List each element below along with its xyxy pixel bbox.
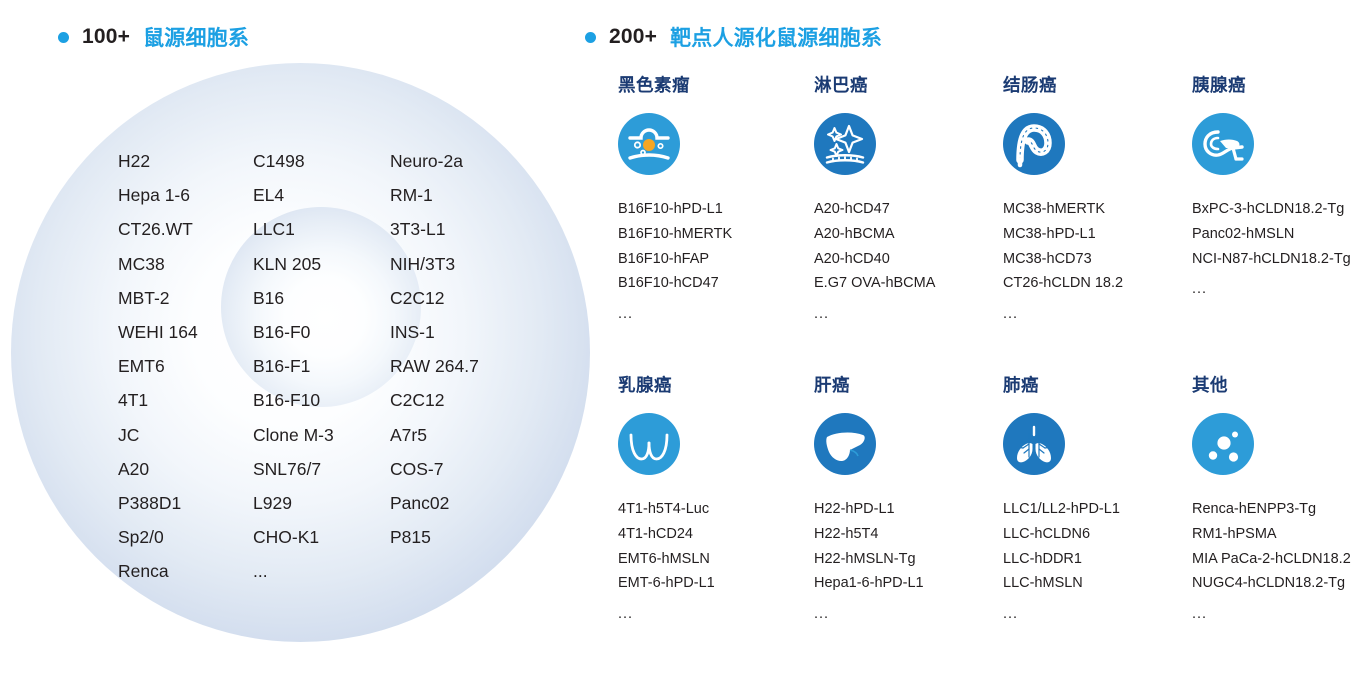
mouse-cell-line-sphere-panel: H22Hepa 1-6CT26.WTMC38MBT-2WEHI 164EMT64… — [0, 0, 600, 681]
cell-line-item: NIH/3T3 — [390, 247, 479, 281]
cell-line-item: SNL76/7 — [253, 452, 334, 486]
cancer-category-title: 其他 — [1192, 372, 1365, 397]
cell-line-item: A20 — [118, 452, 198, 486]
sphere-column-1: H22Hepa 1-6CT26.WTMC38MBT-2WEHI 164EMT64… — [118, 144, 198, 588]
cell-line-item: H22-hPD-L1 — [814, 497, 1004, 522]
sphere-cell-line-columns: H22Hepa 1-6CT26.WTMC38MBT-2WEHI 164EMT64… — [0, 0, 600, 681]
cancer-category-cell: 结肠癌 MC38-hMERTKMC38-hPD-L1MC38-hCD73CT26… — [1003, 72, 1193, 326]
cancer-category-title: 结肠癌 — [1003, 72, 1193, 97]
cell-line-item: C1498 — [253, 144, 334, 178]
melanoma-skin-icon — [618, 113, 680, 175]
cell-line-item: Hepa1-6-hPD-L1 — [814, 571, 1004, 596]
cancer-category-title: 黑色素瘤 — [618, 72, 808, 97]
cell-line-item: B16F10-hFAP — [618, 247, 808, 272]
cell-line-item: A7r5 — [390, 418, 479, 452]
lungs-icon — [1003, 413, 1065, 475]
cell-line-item: Panc02 — [390, 486, 479, 520]
cell-line-item: Renca-hENPP3-Tg — [1192, 497, 1365, 522]
cell-line-item: ... — [618, 596, 808, 626]
cell-line-item: ... — [253, 554, 334, 588]
cell-line-item: Clone M-3 — [253, 418, 334, 452]
cell-line-item: MC38 — [118, 247, 198, 281]
cell-line-item: MIA PaCa-2-hCLDN18.2 — [1192, 547, 1365, 572]
cell-line-item: LLC-hDDR1 — [1003, 547, 1193, 572]
cell-line-item: EMT6 — [118, 349, 198, 383]
section-header-humanized-cell-lines: 200+ 靶点人源化鼠源细胞系 — [585, 22, 882, 52]
cell-line-item: EMT-6-hPD-L1 — [618, 571, 808, 596]
cell-line-item: BxPC-3-hCLDN18.2-Tg — [1192, 197, 1365, 222]
cancer-category-grid: 黑色素瘤 B16F10-hPD-L1B16F10-hMERTKB16F10-hF… — [618, 72, 1358, 672]
cell-line-item: NCI-N87-hCLDN18.2-Tg — [1192, 247, 1365, 272]
pancreas-icon — [1192, 113, 1254, 175]
cell-line-item: ... — [1192, 596, 1365, 626]
cancer-category-cell: 胰腺癌 BxPC-3-hCLDN18.2-TgPanc02-hMSLNNCI-N… — [1192, 72, 1365, 301]
cell-line-item: CT26-hCLDN 18.2 — [1003, 271, 1193, 296]
cell-line-item: Sp2/0 — [118, 520, 198, 554]
cell-line-item: NUGC4-hCLDN18.2-Tg — [1192, 571, 1365, 596]
cancer-category-cell: 其他 Renca-hENPP3-TgRM1-hPSMAMIA PaCa-2-hC… — [1192, 372, 1365, 626]
cell-line-item: H22-h5T4 — [814, 522, 1004, 547]
cell-line-item: EMT6-hMSLN — [618, 547, 808, 572]
cell-line-item: ... — [814, 596, 1004, 626]
cancer-category-cell-line-list: LLC1/LL2-hPD-L1LLC-hCLDN6LLC-hDDR1LLC-hM… — [1003, 497, 1193, 626]
cell-line-item: B16F10-hPD-L1 — [618, 197, 808, 222]
cancer-category-title: 胰腺癌 — [1192, 72, 1365, 97]
header-right-count: 200+ — [609, 25, 657, 49]
cancer-category-title: 乳腺癌 — [618, 372, 808, 397]
cancer-category-cell-line-list: MC38-hMERTKMC38-hPD-L1MC38-hCD73CT26-hCL… — [1003, 197, 1193, 326]
cell-line-item: MBT-2 — [118, 281, 198, 315]
cell-line-item: E.G7 OVA-hBCMA — [814, 271, 1004, 296]
cell-line-item: EL4 — [253, 178, 334, 212]
cell-line-item: B16F10-hMERTK — [618, 222, 808, 247]
cancer-category-cell: 乳腺癌 4T1-h5T4-Luc4T1-hCD24EMT6-hMSLNEMT-6… — [618, 372, 808, 626]
cell-line-item: CT26.WT — [118, 212, 198, 246]
cancer-category-cell-line-list: B16F10-hPD-L1B16F10-hMERTKB16F10-hFAPB16… — [618, 197, 808, 326]
cell-line-item: 4T1 — [118, 383, 198, 417]
sphere-column-2: C1498EL4LLC1KLN 205B16B16-F0B16-F1B16-F1… — [253, 144, 334, 588]
cancer-category-cell: 肺癌 LLC1/LL2-hPD-L1LLC-hCLDN6LLC-hDDR1LLC… — [1003, 372, 1193, 626]
cell-line-item: B16-F0 — [253, 315, 334, 349]
cell-line-item: 4T1-h5T4-Luc — [618, 497, 808, 522]
cell-line-item: MC38-hMERTK — [1003, 197, 1193, 222]
cancer-category-cell-line-list: A20-hCD47A20-hBCMAA20-hCD40E.G7 OVA-hBCM… — [814, 197, 1004, 326]
cell-line-item: JC — [118, 418, 198, 452]
cell-line-item: ... — [1192, 271, 1365, 301]
colon-icon — [1003, 113, 1065, 175]
cell-line-item: B16-F10 — [253, 383, 334, 417]
cell-line-item: B16F10-hCD47 — [618, 271, 808, 296]
cell-line-item: LLC-hMSLN — [1003, 571, 1193, 596]
cell-line-item: L929 — [253, 486, 334, 520]
cell-line-item: ... — [1003, 296, 1193, 326]
cell-line-item: RM1-hPSMA — [1192, 522, 1365, 547]
cell-line-item: B16-F1 — [253, 349, 334, 383]
cell-line-item: INS-1 — [390, 315, 479, 349]
sphere-column-3: Neuro-2aRM-13T3-L1NIH/3T3C2C12INS-1RAW 2… — [390, 144, 479, 554]
cell-line-item: P815 — [390, 520, 479, 554]
cancer-category-cell-line-list: Renca-hENPP3-TgRM1-hPSMAMIA PaCa-2-hCLDN… — [1192, 497, 1365, 626]
cell-line-item: 3T3-L1 — [390, 212, 479, 246]
cell-line-item: ... — [1003, 596, 1193, 626]
cell-line-item: H22 — [118, 144, 198, 178]
cell-line-item: 4T1-hCD24 — [618, 522, 808, 547]
cell-line-item: B16 — [253, 281, 334, 315]
cell-line-item: LLC1 — [253, 212, 334, 246]
cancer-category-cell: 黑色素瘤 B16F10-hPD-L1B16F10-hMERTKB16F10-hF… — [618, 72, 808, 326]
cell-line-item: ... — [618, 296, 808, 326]
cell-line-item: WEHI 164 — [118, 315, 198, 349]
cell-line-item: ... — [814, 296, 1004, 326]
breast-icon — [618, 413, 680, 475]
cell-line-item: H22-hMSLN-Tg — [814, 547, 1004, 572]
cell-line-item: A20-hCD40 — [814, 247, 1004, 272]
header-right-text: 靶点人源化鼠源细胞系 — [670, 22, 882, 52]
cell-line-item: C2C12 — [390, 281, 479, 315]
cancer-category-cell-line-list: BxPC-3-hCLDN18.2-TgPanc02-hMSLNNCI-N87-h… — [1192, 197, 1365, 301]
cell-line-item: LLC-hCLDN6 — [1003, 522, 1193, 547]
cell-line-item: Hepa 1-6 — [118, 178, 198, 212]
lymphoma-sparkle-icon — [814, 113, 876, 175]
cancer-category-title: 肝癌 — [814, 372, 1004, 397]
cancer-category-cell-line-list: 4T1-h5T4-Luc4T1-hCD24EMT6-hMSLNEMT-6-hPD… — [618, 497, 808, 626]
cell-line-item: Neuro-2a — [390, 144, 479, 178]
cancer-category-cell: 淋巴癌 A20-hCD47A20-hBCMAA20-hCD40E.G7 OVA-… — [814, 72, 1004, 326]
cell-line-item: KLN 205 — [253, 247, 334, 281]
cell-line-item: Renca — [118, 554, 198, 588]
cell-line-item: RM-1 — [390, 178, 479, 212]
cancer-category-title: 淋巴癌 — [814, 72, 1004, 97]
cell-line-item: MC38-hPD-L1 — [1003, 222, 1193, 247]
cancer-category-title: 肺癌 — [1003, 372, 1193, 397]
cell-line-item: LLC1/LL2-hPD-L1 — [1003, 497, 1193, 522]
cell-line-item: C2C12 — [390, 383, 479, 417]
cell-line-item: A20-hBCMA — [814, 222, 1004, 247]
cells-dots-icon — [1192, 413, 1254, 475]
cell-line-item: CHO-K1 — [253, 520, 334, 554]
cell-line-item: MC38-hCD73 — [1003, 247, 1193, 272]
liver-icon — [814, 413, 876, 475]
cell-line-item: P388D1 — [118, 486, 198, 520]
cancer-category-cell: 肝癌 H22-hPD-L1H22-h5T4H22-hMSLN-TgHepa1-6… — [814, 372, 1004, 626]
cell-line-item: RAW 264.7 — [390, 349, 479, 383]
cell-line-item: A20-hCD47 — [814, 197, 1004, 222]
cell-line-item: COS-7 — [390, 452, 479, 486]
cell-line-item: Panc02-hMSLN — [1192, 222, 1365, 247]
cancer-category-cell-line-list: H22-hPD-L1H22-h5T4H22-hMSLN-TgHepa1-6-hP… — [814, 497, 1004, 626]
